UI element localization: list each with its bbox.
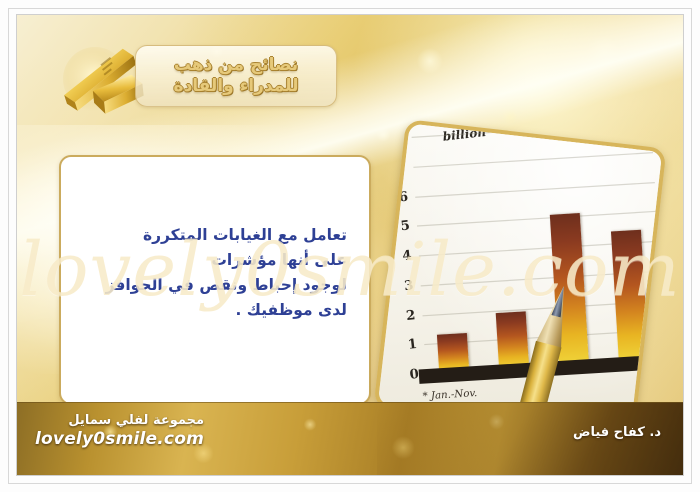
chart-photo: billion 876543210 * Jan.-Nov. Source: Mi… (373, 119, 666, 437)
poster-frame: نصائح من ذهب للمدراء والقادة تعامل مع ال… (16, 14, 684, 476)
chart-photo-frame: billion 876543210 * Jan.-Nov. Source: Mi… (373, 119, 666, 437)
plaque-title-line2: للمدراء والقادة (174, 77, 299, 96)
plaque-title-line1: نصائح من ذهب (174, 56, 298, 75)
message-line-1: تعامل مع الغيابات المتكررة (106, 223, 347, 248)
chart-gridline (417, 211, 657, 227)
brand-arabic-label: مجموعة لفلي سمايل (35, 413, 204, 428)
footer: مجموعة لفلي سمايل lovely0smile.com د. كف… (17, 402, 683, 475)
message-card: تعامل مع الغيابات المتكررة على أنها مؤشر… (59, 155, 371, 405)
chart-bar (611, 230, 649, 362)
chart-gridline (413, 152, 653, 168)
message-line-2: على أنها مؤشرات (106, 248, 347, 273)
chart-gridline (415, 181, 655, 197)
title-plaque: نصائح من ذهب للمدراء والقادة (135, 45, 337, 107)
chart-figure: billion 876543210 * Jan.-Nov. Source: Mi… (373, 119, 666, 437)
footer-brand: مجموعة لفلي سمايل lovely0smile.com (35, 413, 204, 449)
message-text: تعامل مع الغيابات المتكررة على أنها مؤشر… (106, 223, 347, 323)
brand-url-label[interactable]: lovely0smile.com (35, 429, 204, 449)
message-line-4: لدى موظفيك . (106, 298, 347, 323)
chart-ytick-label: 0 (392, 366, 420, 384)
chart-ytick-label: 3 (386, 277, 414, 295)
chart-ytick-label: 2 (388, 307, 416, 325)
poster-root: نصائح من ذهب للمدراء والقادة تعامل مع ال… (0, 0, 700, 492)
chart-bar (496, 311, 529, 369)
header: نصائح من ذهب للمدراء والقادة (17, 33, 683, 125)
message-line-3: لوجود إحباط ونقص في الحوافز (106, 273, 347, 298)
author-label: د. كفاح فياض (573, 425, 661, 440)
